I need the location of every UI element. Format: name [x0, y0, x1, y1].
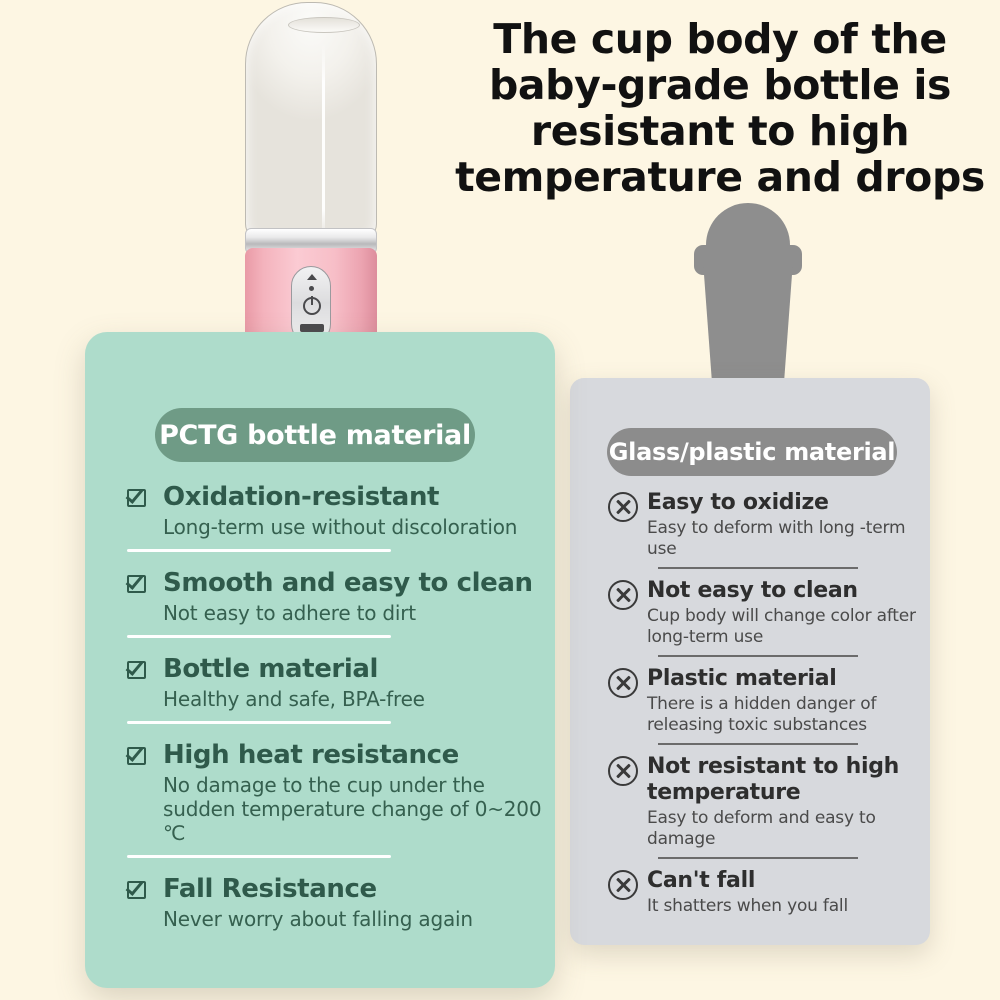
panel-bar-icon [300, 324, 324, 332]
checkbox-checked-icon [127, 658, 148, 679]
list-item: Oxidation-resistant Long-term use withou… [111, 482, 555, 539]
green-card-badge: PCTG bottle material [155, 408, 475, 462]
list-item-title: Bottle material [163, 654, 555, 684]
comparison-card-pctg: PCTG bottle material Oxidation-resistant… [85, 332, 555, 988]
list-item-title: Plastic material [647, 666, 922, 692]
list-item-title: Smooth and easy to clean [163, 568, 555, 598]
list-item: Not easy to clean Cup body will change c… [592, 578, 922, 648]
cross-circle-icon [608, 492, 638, 522]
cross-circle-icon [608, 756, 638, 786]
cross-circle-icon [608, 580, 638, 610]
divider [658, 655, 858, 657]
list-item-title: Oxidation-resistant [163, 482, 555, 512]
list-item-title: Not resistant to high temperature [647, 754, 922, 806]
list-item-title: Not easy to clean [647, 578, 922, 604]
cross-circle-icon [608, 668, 638, 698]
checkbox-checked-icon [127, 878, 148, 899]
list-item-title: Fall Resistance [163, 874, 555, 904]
list-item-desc: Easy to deform with long -term use [647, 518, 922, 560]
divider [127, 635, 391, 638]
checkbox-checked-icon [127, 572, 148, 593]
list-item-title: Easy to oxidize [647, 490, 922, 516]
list-item-desc: Never worry about falling again [163, 907, 555, 931]
divider [127, 855, 391, 858]
list-item: Smooth and easy to clean Not easy to adh… [111, 568, 555, 625]
checkbox-checked-icon [127, 744, 148, 765]
green-feature-list: Oxidation-resistant Long-term use withou… [111, 482, 555, 931]
list-item-desc: It shatters when you fall [647, 896, 922, 917]
led-dot-icon [309, 286, 314, 291]
divider [658, 743, 858, 745]
list-item: Can't fall It shatters when you fall [592, 868, 922, 917]
list-item: Not resistant to high temperature Easy t… [592, 754, 922, 850]
comparison-card-glass-plastic: Glass/plastic material Easy to oxidize E… [570, 378, 930, 945]
list-item: Fall Resistance Never worry about fallin… [111, 874, 555, 931]
divider [127, 549, 391, 552]
checkbox-checked-icon [127, 486, 148, 507]
triangle-indicator-icon [307, 274, 317, 280]
list-item: Plastic material There is a hidden dange… [592, 666, 922, 736]
list-item-desc: There is a hidden danger of releasing to… [647, 694, 922, 736]
power-button-icon [303, 297, 321, 315]
divider [658, 857, 858, 859]
list-item-title: High heat resistance [163, 740, 555, 770]
list-item-desc: Not easy to adhere to dirt [163, 601, 555, 625]
gray-card-badge: Glass/plastic material [607, 428, 897, 476]
list-item: High heat resistance No damage to the cu… [111, 740, 555, 845]
infographic-canvas: The cup body of the baby-grade bottle is… [0, 0, 1000, 1000]
list-item-desc: Cup body will change color after long-te… [647, 606, 922, 648]
bottle-rim [288, 17, 360, 33]
gray-feature-list: Easy to oxidize Easy to deform with long… [592, 490, 922, 917]
divider [658, 567, 858, 569]
cross-circle-icon [608, 870, 638, 900]
page-title: The cup body of the baby-grade bottle is… [455, 16, 985, 200]
list-item-desc: No damage to the cup under the sudden te… [163, 773, 555, 845]
list-item-desc: Long-term use without discoloration [163, 515, 555, 539]
list-item: Bottle material Healthy and safe, BPA-fr… [111, 654, 555, 711]
bottle-cup-glass [245, 2, 377, 240]
bottle-seam [322, 43, 325, 239]
list-item-desc: Healthy and safe, BPA-free [163, 687, 555, 711]
divider [127, 721, 391, 724]
list-item: Easy to oxidize Easy to deform with long… [592, 490, 922, 560]
list-item-title: Can't fall [647, 868, 922, 894]
list-item-desc: Easy to deform and easy to damage [647, 808, 922, 850]
